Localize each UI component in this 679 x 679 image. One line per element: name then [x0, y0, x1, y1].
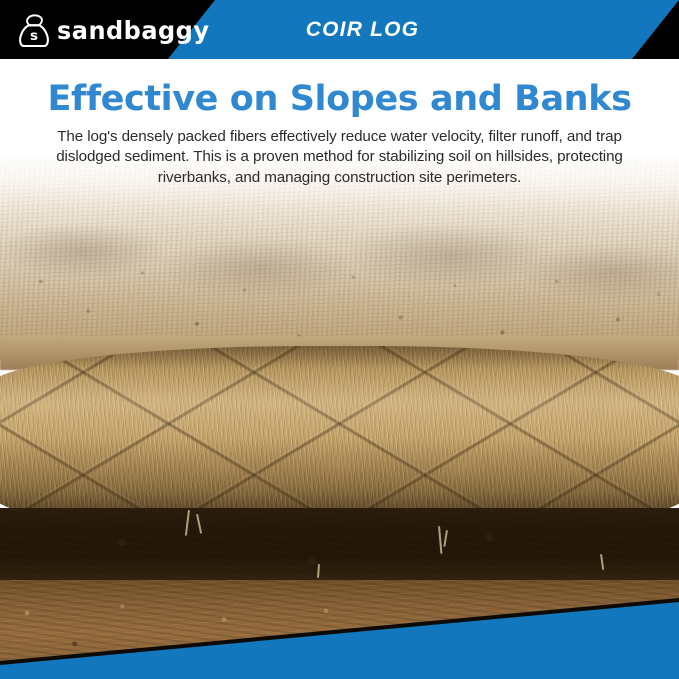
stray-fiber	[443, 530, 448, 547]
stray-fiber	[438, 526, 442, 554]
photo-layers	[0, 150, 679, 679]
product-photo	[0, 150, 679, 679]
copy-block: Effective on Slopes and Banks The log's …	[0, 59, 679, 189]
header-bar: s sandbaggy COIR LOG	[0, 0, 679, 59]
body-line-1: The log's densely packed fibers effectiv…	[57, 128, 484, 145]
marketing-infographic: s sandbaggy COIR LOG	[0, 0, 679, 679]
product-title: COIR LOG	[0, 0, 679, 59]
stray-fiber	[317, 564, 320, 578]
stray-fiber	[196, 514, 202, 534]
stray-fiber	[600, 554, 604, 570]
stray-fiber	[185, 510, 190, 536]
body-line-4: managing construction site perimeters.	[264, 169, 521, 186]
body-copy: The log's densely packed fibers effectiv…	[50, 127, 630, 189]
headline: Effective on Slopes and Banks	[24, 81, 655, 118]
